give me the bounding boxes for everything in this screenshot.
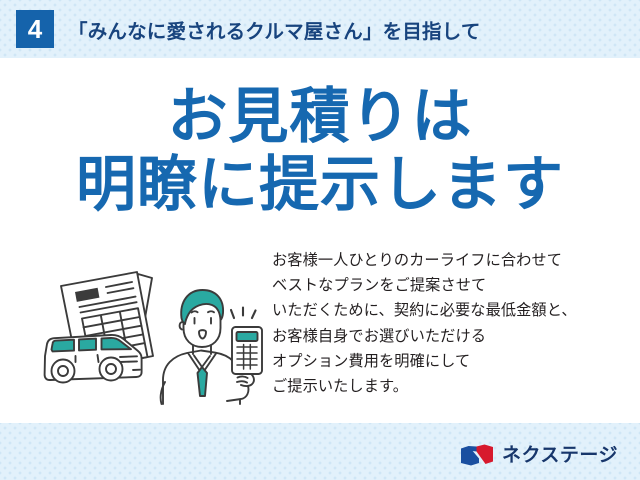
salesman-illustration-svg — [34, 252, 274, 412]
section-number-badge: 4 — [16, 10, 54, 48]
headline: お見積りは 明瞭に提示します — [0, 84, 640, 220]
content-stage: お見積りは 明瞭に提示します お客様一人ひとりのカーライフに合わせて ベストなプ… — [0, 58, 640, 423]
header: 4 「みんなに愛されるクルマ屋さん」を目指して — [0, 0, 640, 58]
van — [45, 335, 142, 383]
body-line-4: お客様自身でお選びいただける — [272, 324, 632, 349]
calculator — [232, 327, 262, 374]
nextage-n-mark-icon — [460, 444, 494, 466]
body-copy: お客様一人ひとりのカーライフに合わせて ベストなプランをご提案させて いただくた… — [272, 248, 632, 399]
body-line-5: オプション費用を明確にして — [272, 349, 632, 374]
headline-line-2: 明瞭に提示します — [0, 152, 640, 220]
sparkle-icon — [231, 308, 256, 319]
header-title: 「みんなに愛されるクルマ屋さん」を目指して — [68, 15, 481, 44]
body-line-3: いただくために、契約に必要な最低金額と、 — [272, 298, 632, 323]
illustration — [34, 252, 274, 412]
body-line-1: お客様一人ひとりのカーライフに合わせて — [272, 248, 632, 273]
brand-logo: ネクステージ — [460, 444, 618, 466]
body-line-6: ご提示いたします。 — [272, 374, 632, 399]
promo-poster: 4 「みんなに愛されるクルマ屋さん」を目指して お見積りは 明瞭に提示します お… — [0, 0, 640, 480]
brand-name: ネクステージ — [502, 446, 618, 465]
headline-line-1: お見積りは — [0, 84, 640, 152]
body-line-2: ベストなプランをご提案させて — [272, 273, 632, 298]
